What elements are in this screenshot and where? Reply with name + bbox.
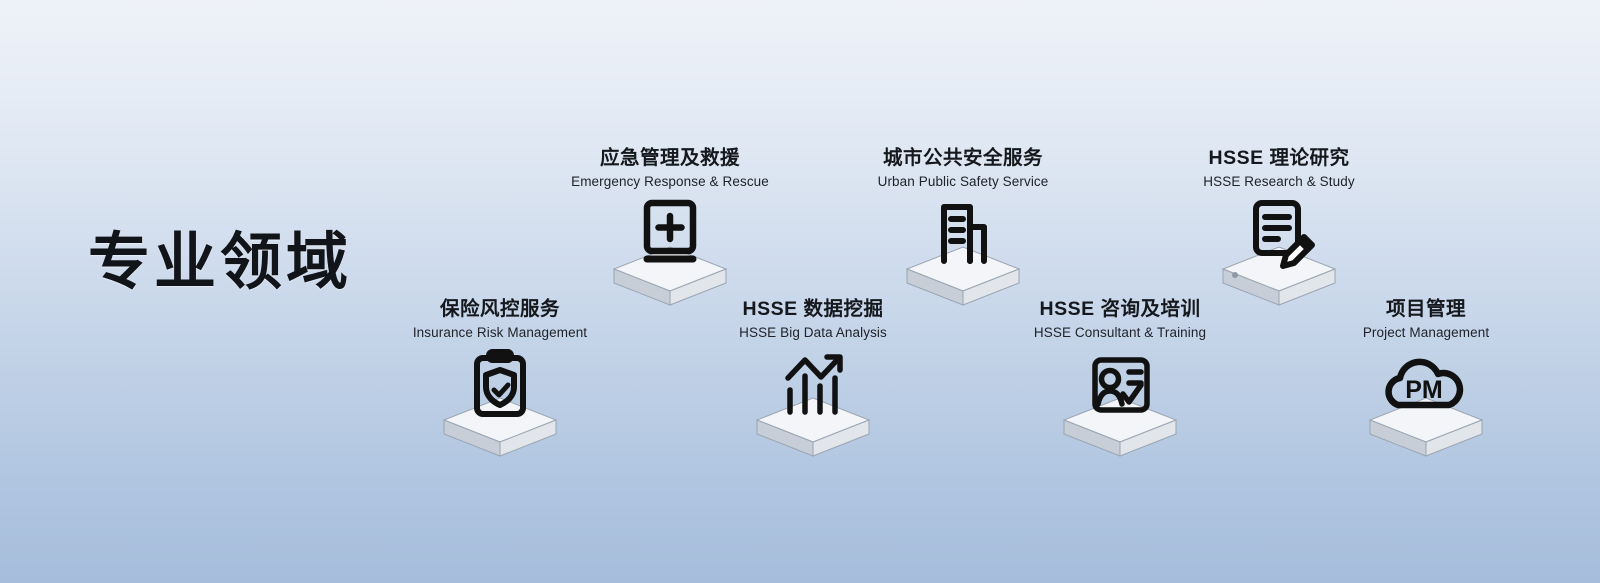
domain-illustration xyxy=(738,350,888,460)
domain-label-cn: 保险风控服务 xyxy=(360,297,640,321)
cloud-pm-icon: PM xyxy=(1389,362,1460,405)
domain-illustration xyxy=(888,199,1038,309)
domain-card-emergency-response[interactable]: 应急管理及救援 Emergency Response & Rescue xyxy=(530,146,810,309)
domain-label-en: Project Management xyxy=(1286,324,1566,342)
domain-card-urban-public-safety[interactable]: 城市公共安全服务 Urban Public Safety Service xyxy=(823,146,1103,309)
pedestal-icon xyxy=(1064,398,1176,456)
medical-monitor-plus-icon xyxy=(647,203,693,259)
cloud-badge-text: PM xyxy=(1405,376,1443,404)
domain-label-cn: 应急管理及救援 xyxy=(530,146,810,170)
domain-label-en: HSSE Big Data Analysis xyxy=(673,324,953,342)
domain-label-en: HSSE Research & Study xyxy=(1139,173,1419,191)
person-card-check-icon xyxy=(1095,360,1147,410)
domain-label-cn: HSSE 理论研究 xyxy=(1139,146,1419,170)
domain-label-cn: HSSE 数据挖掘 xyxy=(673,297,953,321)
domain-label-en: Insurance Risk Management xyxy=(360,324,640,342)
domain-card-hsse-research[interactable]: HSSE 理论研究 HSSE Research & Study xyxy=(1139,146,1419,309)
domain-illustration xyxy=(1045,350,1195,460)
domain-label-cn: 城市公共安全服务 xyxy=(823,146,1103,170)
domain-label-en: HSSE Consultant & Training xyxy=(980,324,1260,342)
domain-illustration: PM xyxy=(1351,350,1501,460)
page-title: 专业领域 xyxy=(88,232,352,294)
domain-illustration xyxy=(595,199,745,309)
domain-illustration xyxy=(1204,199,1354,309)
pedestal-icon xyxy=(757,398,869,456)
domain-label-cn: HSSE 咨询及培训 xyxy=(980,297,1260,321)
domain-label-cn: 项目管理 xyxy=(1286,297,1566,321)
domain-card-insurance-risk[interactable]: 保险风控服务 Insurance Risk Management xyxy=(360,297,640,460)
domain-illustration xyxy=(425,350,575,460)
domain-card-project-management[interactable]: 项目管理 Project Management PM xyxy=(1286,297,1566,460)
domain-card-hsse-big-data[interactable]: HSSE 数据挖掘 HSSE Big Data Analysis xyxy=(673,297,953,460)
domain-card-hsse-consultant[interactable]: HSSE 咨询及培训 HSSE Consultant & Training xyxy=(980,297,1260,460)
domain-label-en: Emergency Response & Rescue xyxy=(530,173,810,191)
domain-label-en: Urban Public Safety Service xyxy=(823,173,1103,191)
